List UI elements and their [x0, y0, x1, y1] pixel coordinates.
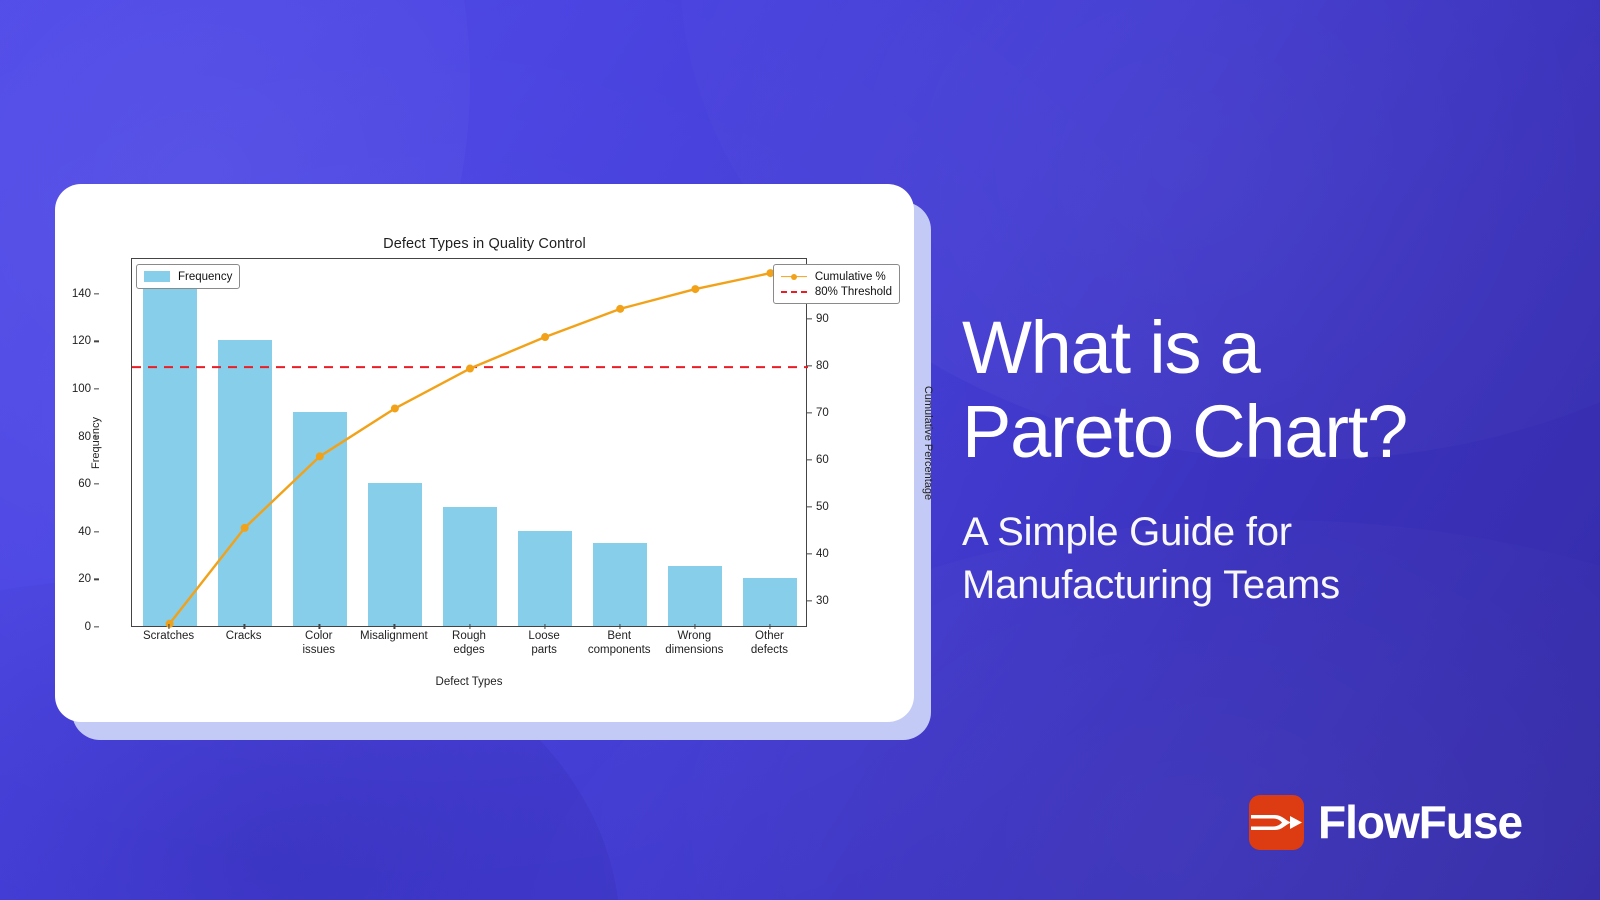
subhead-line-1: A Simple Guide for [962, 506, 1562, 559]
legend-item-threshold: 80% Threshold [781, 284, 892, 299]
y-tick-left-20: 20 [78, 573, 91, 585]
legend-label-frequency: Frequency [178, 271, 232, 283]
legend-swatch-icon [144, 271, 170, 282]
legend-label-cumulative: Cumulative % [815, 271, 886, 283]
headline-line-1: What is a [962, 306, 1562, 390]
y-axis-left-title: Frequency [90, 378, 102, 508]
converging-arrows-icon [1249, 795, 1304, 850]
subhead-line-2: Manufacturing Teams [962, 559, 1562, 612]
flowfuse-mark-icon [1249, 795, 1304, 850]
chart-title: Defect Types in Quality Control [55, 236, 914, 252]
y-axis-right-title: Cumulative Percentage [922, 368, 934, 518]
y-tick-left-120: 120 [72, 335, 91, 347]
cumulative-line [170, 273, 771, 624]
headline-block: What is a Pareto Chart? A Simple Guide f… [962, 306, 1562, 612]
cumulative-point-6 [616, 305, 624, 313]
plot-area [131, 258, 807, 627]
headline-line-2: Pareto Chart? [962, 390, 1562, 474]
plot-inner [132, 259, 806, 626]
y-tick-left-140: 140 [72, 288, 91, 300]
y-tick-left-40: 40 [78, 526, 91, 538]
cumulative-point-5 [541, 333, 549, 341]
legend-frequency: Frequency [136, 264, 240, 289]
legend-dashed-line-icon [781, 286, 807, 297]
x-axis-title: Defect Types [131, 676, 807, 688]
y-tick-right-80: 80 [816, 360, 829, 372]
legend-label-threshold: 80% Threshold [815, 286, 892, 298]
poster-canvas: Defect Types in Quality Control Frequenc… [0, 0, 1600, 900]
chart-card: Defect Types in Quality Control Frequenc… [55, 184, 914, 722]
x-tick-other-defects: Otherdefects [725, 630, 814, 657]
y-tick-right-70: 70 [816, 407, 829, 419]
cumulative-point-4 [466, 365, 474, 373]
y-tick-left-100: 100 [72, 383, 91, 395]
y-axis-left: Frequency 020406080100120140 [77, 258, 99, 627]
y-tick-right-90: 90 [816, 313, 829, 325]
legend-cumulative: Cumulative % 80% Threshold [773, 264, 900, 304]
flowfuse-wordmark: FlowFuse [1318, 795, 1522, 850]
cumulative-point-1 [241, 524, 249, 532]
y-tick-left-0: 0 [85, 621, 91, 633]
chart-overlay [132, 259, 808, 628]
pareto-chart: Defect Types in Quality Control Frequenc… [55, 184, 914, 722]
flowfuse-logo: FlowFuse [1249, 795, 1522, 850]
legend-item-frequency: Frequency [144, 269, 232, 284]
legend-item-cumulative: Cumulative % [781, 269, 892, 284]
cumulative-point-2 [316, 452, 324, 460]
x-axis-ticks: ScratchesCracksColorissuesMisalignmentRo… [131, 630, 807, 676]
y-tick-left-60: 60 [78, 478, 91, 490]
y-tick-right-40: 40 [816, 548, 829, 560]
y-tick-right-30: 30 [816, 595, 829, 607]
cumulative-point-3 [391, 404, 399, 412]
y-tick-left-80: 80 [78, 431, 91, 443]
y-tick-right-60: 60 [816, 454, 829, 466]
y-axis-right: 30405060708090100 Cumulative Percentage [807, 258, 907, 627]
cumulative-point-7 [691, 285, 699, 293]
legend-line-marker-icon [781, 271, 807, 282]
y-tick-right-50: 50 [816, 501, 829, 513]
